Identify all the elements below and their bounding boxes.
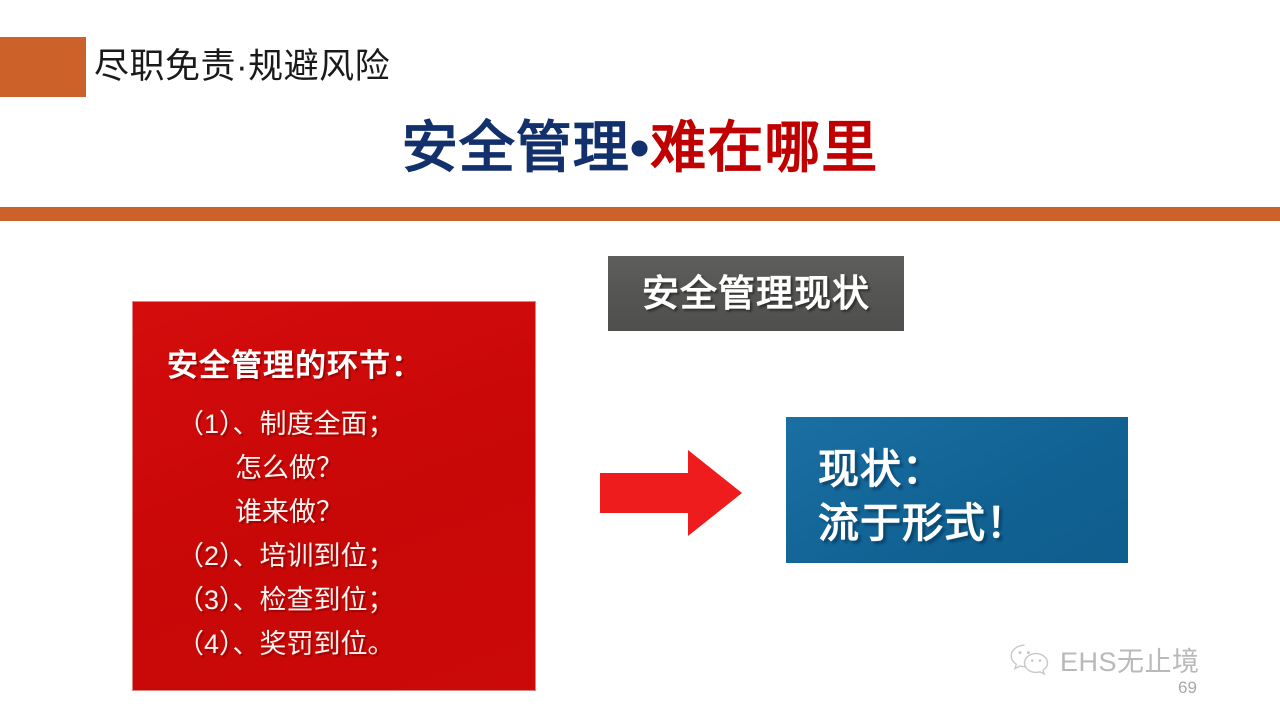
watermark-text: EHS无止境 bbox=[1060, 640, 1200, 679]
list-item: 谁来做？ bbox=[143, 490, 535, 534]
list-item: （1）、制度全面； bbox=[143, 402, 535, 446]
list-item: （3）、检查到位； bbox=[143, 578, 535, 622]
current-state-header-box: 安全管理现状 bbox=[608, 256, 904, 331]
current-state-panel: 现状： 流于形式！ bbox=[786, 417, 1128, 563]
page-title-red-part: 难在哪里 bbox=[650, 116, 878, 179]
header-accent-block bbox=[0, 37, 86, 97]
safety-steps-panel: 安全管理的环节： （1）、制度全面； 怎么做？ 谁来做？ （2）、培训到位； （… bbox=[133, 302, 535, 690]
current-state-line-2: 流于形式！ bbox=[818, 489, 1028, 549]
list-item: （4）、奖罚到位。 bbox=[143, 622, 535, 666]
page-title: 安全管理•难在哪里 bbox=[0, 108, 1280, 188]
current-state-line-1: 现状： bbox=[818, 435, 944, 495]
wechat-icon bbox=[1008, 642, 1052, 678]
list-item: （2）、培训到位； bbox=[143, 534, 535, 578]
right-arrow-icon bbox=[600, 450, 742, 536]
current-state-header-text: 安全管理现状 bbox=[608, 256, 904, 331]
list-item: 怎么做？ bbox=[143, 446, 535, 490]
safety-steps-title: 安全管理的环节： bbox=[167, 340, 423, 385]
header-title: 尽职免责·规避风险 bbox=[94, 38, 390, 96]
page-number: 69 bbox=[1178, 678, 1197, 698]
safety-steps-list: （1）、制度全面； 怎么做？ 谁来做？ （2）、培训到位； （3）、检查到位； … bbox=[143, 402, 535, 666]
divider-bar bbox=[0, 207, 1280, 221]
page-title-blue-part: 安全管理 bbox=[402, 116, 630, 179]
watermark: EHS无止境 bbox=[1008, 640, 1200, 679]
page-title-separator: • bbox=[630, 116, 651, 179]
slide-canvas: 尽职免责·规避风险 安全管理•难在哪里 安全管理的环节： （1）、制度全面； 怎… bbox=[0, 0, 1280, 720]
